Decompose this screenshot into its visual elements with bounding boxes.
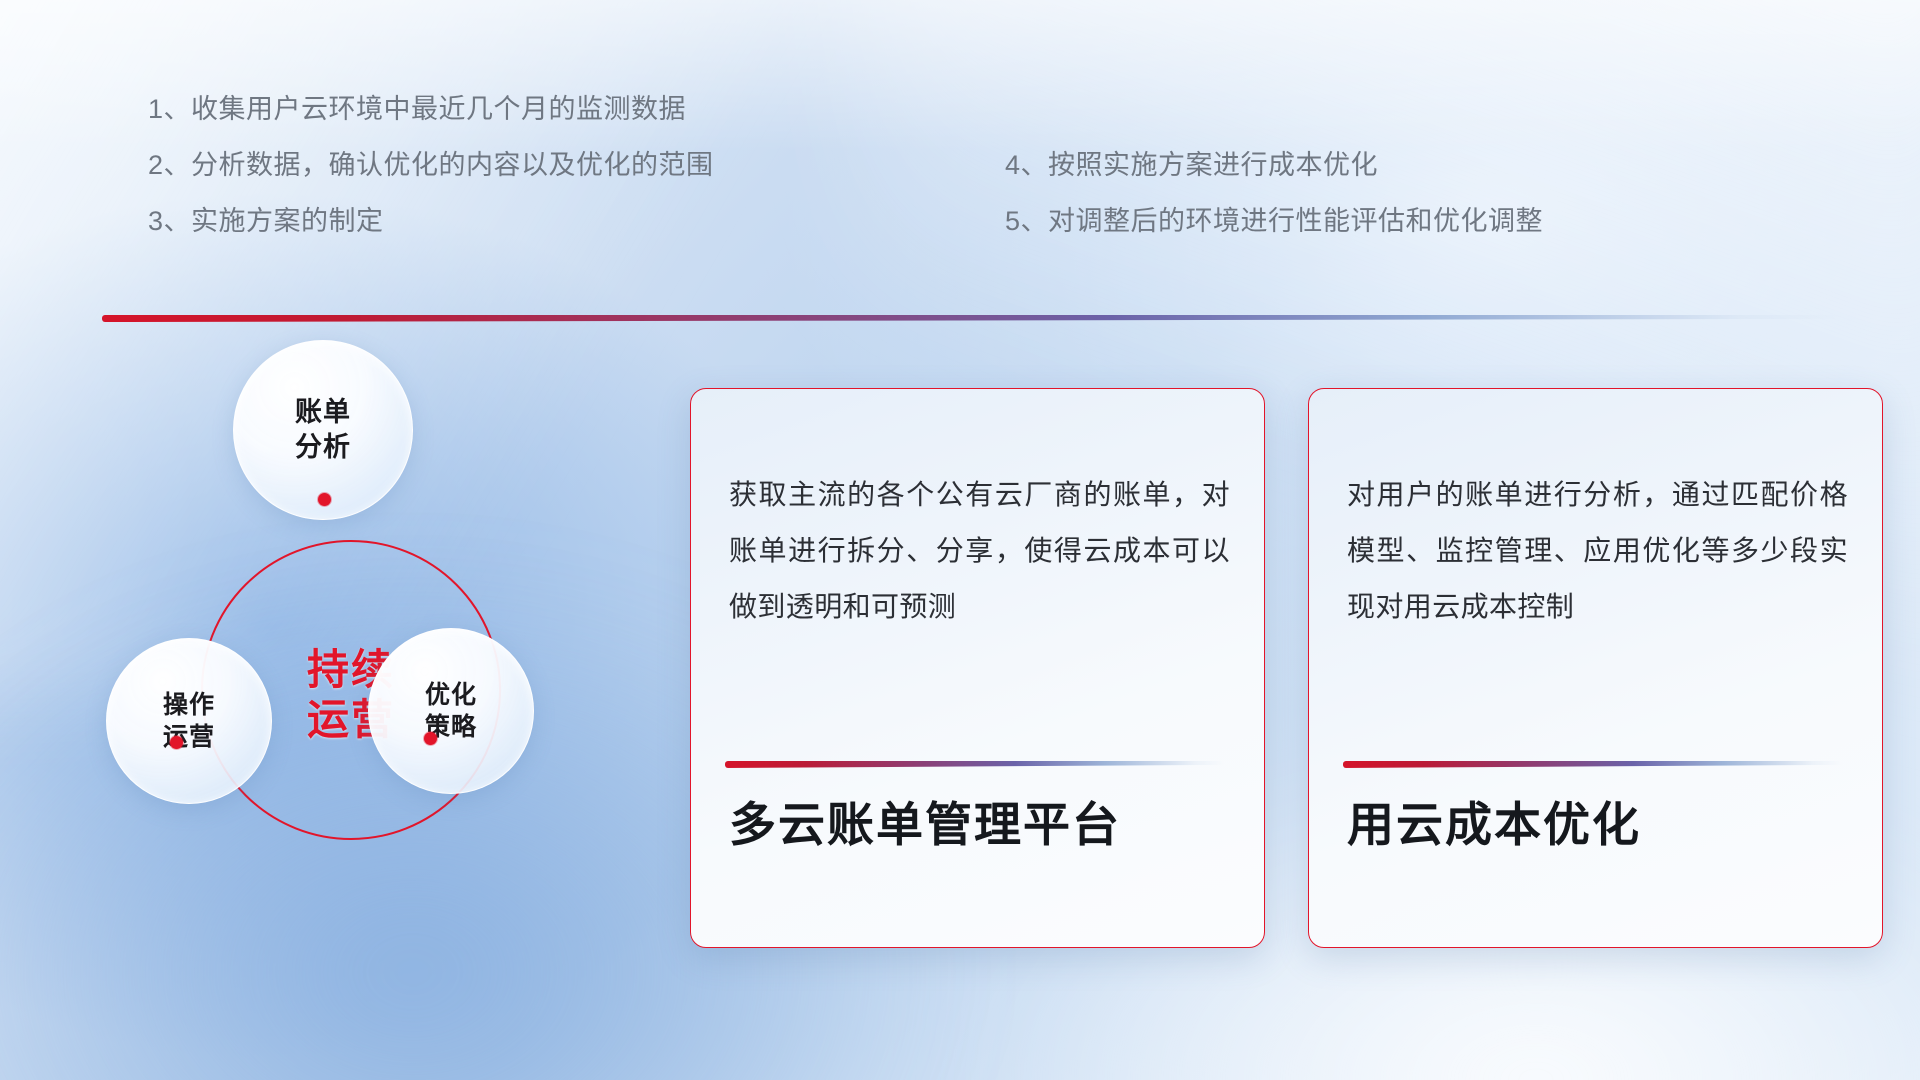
diagram-node-operations[interactable]: 操作 运营 — [106, 638, 272, 804]
node-label-line-1: 操作 — [163, 689, 215, 721]
steps-list: 1、收集用户云环境中最近几个月的监测数据 2、分析数据，确认优化的内容以及优化的… — [0, 0, 1920, 300]
node-label-line-2: 运营 — [163, 721, 215, 753]
node-label-line-2: 分析 — [295, 430, 351, 465]
step-item: 4、按照实施方案进行成本优化 — [1005, 152, 1543, 179]
step-item: 1、收集用户云环境中最近几个月的监测数据 — [148, 96, 714, 123]
steps-column-left: 1、收集用户云环境中最近几个月的监测数据 2、分析数据，确认优化的内容以及优化的… — [148, 96, 714, 264]
step-item: 5、对调整后的环境进行性能评估和优化调整 — [1005, 208, 1543, 235]
card-title: 用云成本优化 — [1347, 797, 1852, 853]
card-description: 获取主流的各个公有云厂商的账单，对账单进行拆分、分享，使得云成本可以做到透明和可… — [729, 467, 1230, 635]
node-label-line-1: 账单 — [295, 395, 351, 430]
card-description: 对用户的账单进行分析，通过匹配价格模型、监控管理、应用优化等多少段实现对用云成本… — [1347, 467, 1848, 635]
step-item: 2、分析数据，确认优化的内容以及优化的范围 — [148, 152, 714, 179]
connector-dot-icon — [318, 493, 331, 506]
connector-dot-icon — [170, 736, 183, 749]
steps-column-right: 4、按照实施方案进行成本优化 5、对调整后的环境进行性能评估和优化调整 — [1005, 152, 1543, 264]
connector-dot-icon — [424, 732, 437, 745]
continuous-operations-diagram: 持续 运营 账单 分析 操作 运营 优化 策略 — [96, 350, 616, 910]
card-divider — [1343, 761, 1843, 768]
diagram-node-optimization[interactable]: 优化 策略 — [368, 628, 534, 794]
card-title: 多云账单管理平台 — [729, 797, 1234, 853]
node-label-line-1: 优化 — [425, 679, 477, 711]
card-cloud-cost-optimization[interactable]: 对用户的账单进行分析，通过匹配价格模型、监控管理、应用优化等多少段实现对用云成本… — [1308, 388, 1883, 948]
step-item: 3、实施方案的制定 — [148, 208, 714, 235]
card-divider — [725, 761, 1225, 768]
card-multi-cloud-billing-platform[interactable]: 获取主流的各个公有云厂商的账单，对账单进行拆分、分享，使得云成本可以做到透明和可… — [690, 388, 1265, 948]
